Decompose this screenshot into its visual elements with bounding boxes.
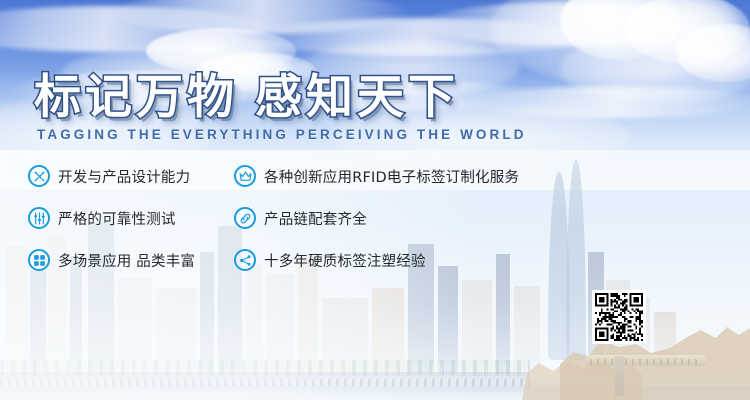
page-subtitle: TAGGING THE EVERYTHING PERCEIVING THE WO…: [37, 127, 527, 142]
qr-code-canvas: [595, 293, 643, 341]
feature-item: 产品链配套齐全: [234, 207, 519, 229]
feature-item: 各种创新应用RFID电子标签订制化服务: [234, 165, 519, 187]
share-icon: [234, 249, 256, 271]
rfid-promo-banner: 标记万物 感知天下 TAGGING THE EVERYTHING PERCEIV…: [0, 0, 750, 400]
crown-icon: [234, 165, 256, 187]
sliders-icon: [28, 207, 50, 229]
feature-label: 产品链配套齐全: [264, 208, 367, 229]
feature-label: 十多年硬质标签注塑经验: [264, 250, 426, 271]
feature-label: 开发与产品设计能力: [58, 166, 190, 187]
grid-icon: [28, 249, 50, 271]
page-title: 标记万物 感知天下: [34, 73, 527, 120]
feature-item: 十多年硬质标签注塑经验: [234, 249, 519, 271]
feature-label: 多场景应用 品类丰富: [58, 250, 195, 271]
feature-column-left: 开发与产品设计能力 严格的可靠性测试: [28, 165, 195, 271]
tools-icon: [28, 165, 50, 187]
headline-block: 标记万物 感知天下 TAGGING THE EVERYTHING PERCEIV…: [34, 73, 527, 142]
feature-item: 严格的可靠性测试: [28, 207, 195, 229]
feature-item: 开发与产品设计能力: [28, 165, 195, 187]
qr-code[interactable]: [592, 290, 646, 344]
feature-column-right: 各种创新应用RFID电子标签订制化服务 产品链配套齐全: [234, 165, 519, 271]
link-icon: [234, 207, 256, 229]
feature-item: 多场景应用 品类丰富: [28, 249, 195, 271]
feature-label: 严格的可靠性测试: [58, 208, 176, 229]
feature-label: 各种创新应用RFID电子标签订制化服务: [264, 166, 519, 187]
